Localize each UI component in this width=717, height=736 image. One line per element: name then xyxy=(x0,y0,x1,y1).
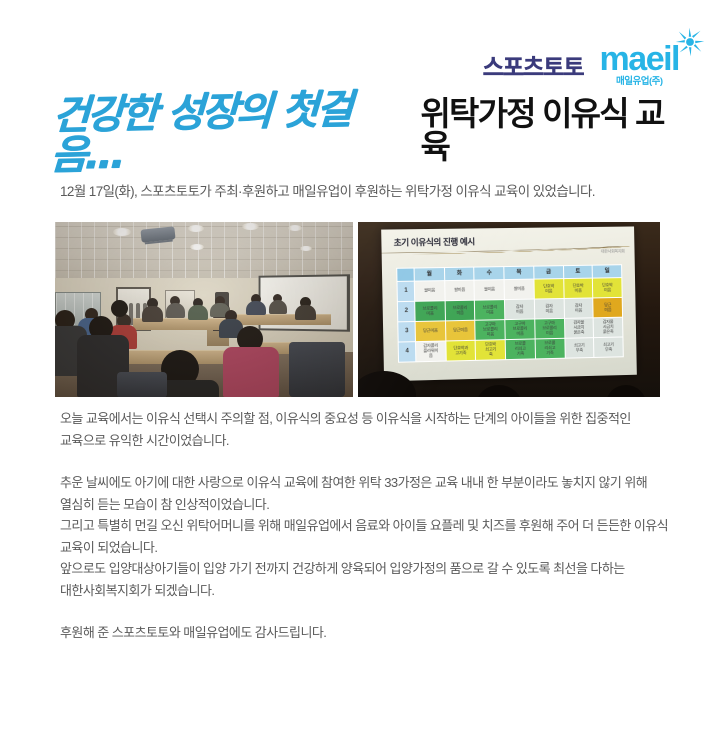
starburst-icon xyxy=(675,27,705,57)
body-line: 교육으로 유익한 시간이었습니다. xyxy=(60,430,677,452)
body-line: 후원해 준 스포츠토토와 매일유업에도 감사드립니다. xyxy=(60,622,677,644)
lead-paragraph: 12월 17일(화), 스포츠토토가 주최·후원하고 매일유업이 후원하는 위탁… xyxy=(60,180,677,200)
article-body: 오늘 교육에서는 이유식 선택시 주의할 점, 이유식의 중요성 등 이유식을 … xyxy=(60,408,677,644)
photo-gallery: 초기 이유식의 진행 예시 대한사회복지회 월화수목금토일 1쌀미음쌀미음쌀미음… xyxy=(55,222,660,397)
photo-vignette xyxy=(55,222,353,397)
body-line: 교육이 되었습니다. xyxy=(60,537,677,559)
paragraph-gap xyxy=(60,601,677,622)
page-title-brush: 건강한 성장의 첫걸음... xyxy=(50,88,417,176)
body-line: 앞으로도 입양대상아기들이 입양 가기 전까지 건강하게 양육되어 입양가정의 … xyxy=(60,558,677,580)
page-title: 건강한 성장의 첫걸음... 위탁가정 이유식 교육 xyxy=(52,92,687,172)
body-line: 그리고 특별히 먼길 오신 위탁어머니를 위해 매일유업에서 음료와 아이들 요… xyxy=(60,515,677,537)
lecture-room-photo xyxy=(55,222,353,397)
maeil-subtext: 매일유업(주) xyxy=(616,77,663,87)
maeil-logo: maeil 매일유업(주) xyxy=(600,43,679,88)
body-line: 추운 날씨에도 아기에 대한 사랑으로 이유식 교육에 참여한 위탁 33가정은… xyxy=(60,472,677,494)
body-line: 오늘 교육에서는 이유식 선택시 주의할 점, 이유식의 중요성 등 이유식을 … xyxy=(60,408,677,430)
projected-slide-photo: 초기 이유식의 진행 예시 대한사회복지회 월화수목금토일 1쌀미음쌀미음쌀미음… xyxy=(358,222,660,397)
body-line: 열심히 듣는 모습이 참 인상적이었습니다. xyxy=(60,494,677,516)
body-line: 대한사회복지회가 되겠습니다. xyxy=(60,580,677,602)
sports-toto-logo: 스포츠토토 xyxy=(483,56,584,88)
paragraph-gap xyxy=(60,451,677,472)
page-title-main: 위탁가정 이유식 교육 xyxy=(420,97,687,164)
photo-glare xyxy=(358,222,660,397)
maeil-wordmark: maeil xyxy=(600,43,679,75)
sponsor-logo-bar: 스포츠토토 maeil 매일유업(주) xyxy=(483,36,679,88)
